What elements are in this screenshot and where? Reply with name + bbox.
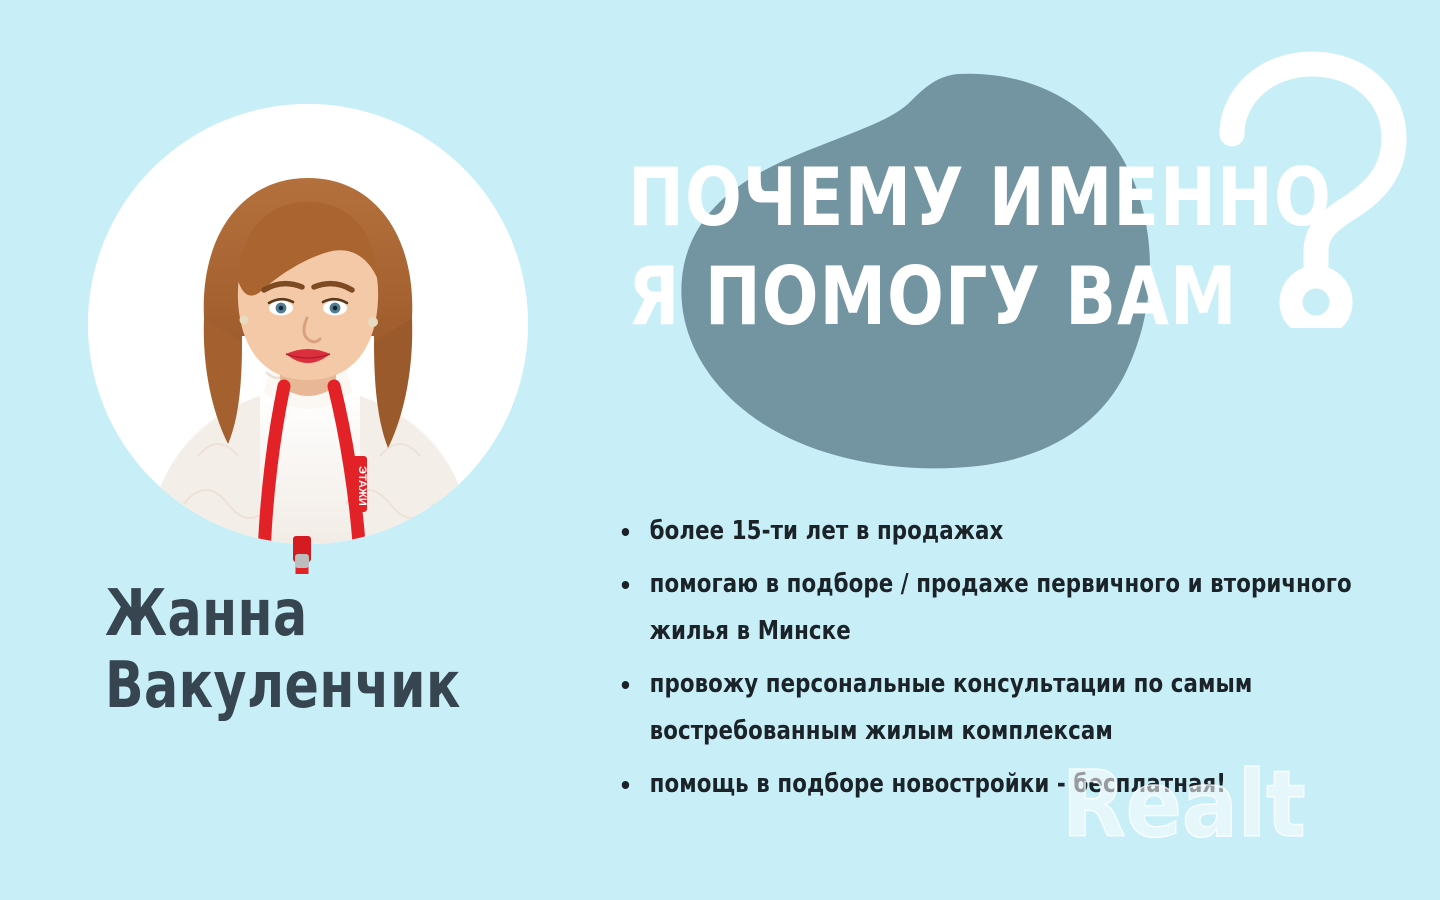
list-item: помощь в подборе новостройки - бесплатна…	[618, 761, 1371, 808]
agent-last-name: Вакуленчик	[105, 650, 545, 722]
list-item: помогаю в подборе / продаже первичного и…	[618, 561, 1371, 655]
promo-banner: ЭТАЖИ Жанна Вакуленчик ПОЧЕМУ ИМЕННО Я П…	[0, 0, 1440, 900]
headline-line-2: Я ПОМОГУ ВАМ	[628, 247, 1279, 346]
headline: ПОЧЕМУ ИМЕННО Я ПОМОГУ ВАМ	[628, 148, 1279, 346]
list-item: более 15-ти лет в продажах	[618, 508, 1371, 555]
agent-portrait: ЭТАЖИ	[88, 104, 528, 574]
lanyard-brand-label: ЭТАЖИ	[356, 466, 368, 506]
headline-line-1: ПОЧЕМУ ИМЕННО	[628, 148, 1279, 247]
benefits-list: более 15-ти лет в продажах помогаю в под…	[618, 508, 1428, 814]
agent-name: Жанна Вакуленчик	[105, 578, 545, 723]
list-item: провожу персональные консультации по сам…	[618, 661, 1371, 755]
agent-first-name: Жанна	[105, 578, 545, 650]
